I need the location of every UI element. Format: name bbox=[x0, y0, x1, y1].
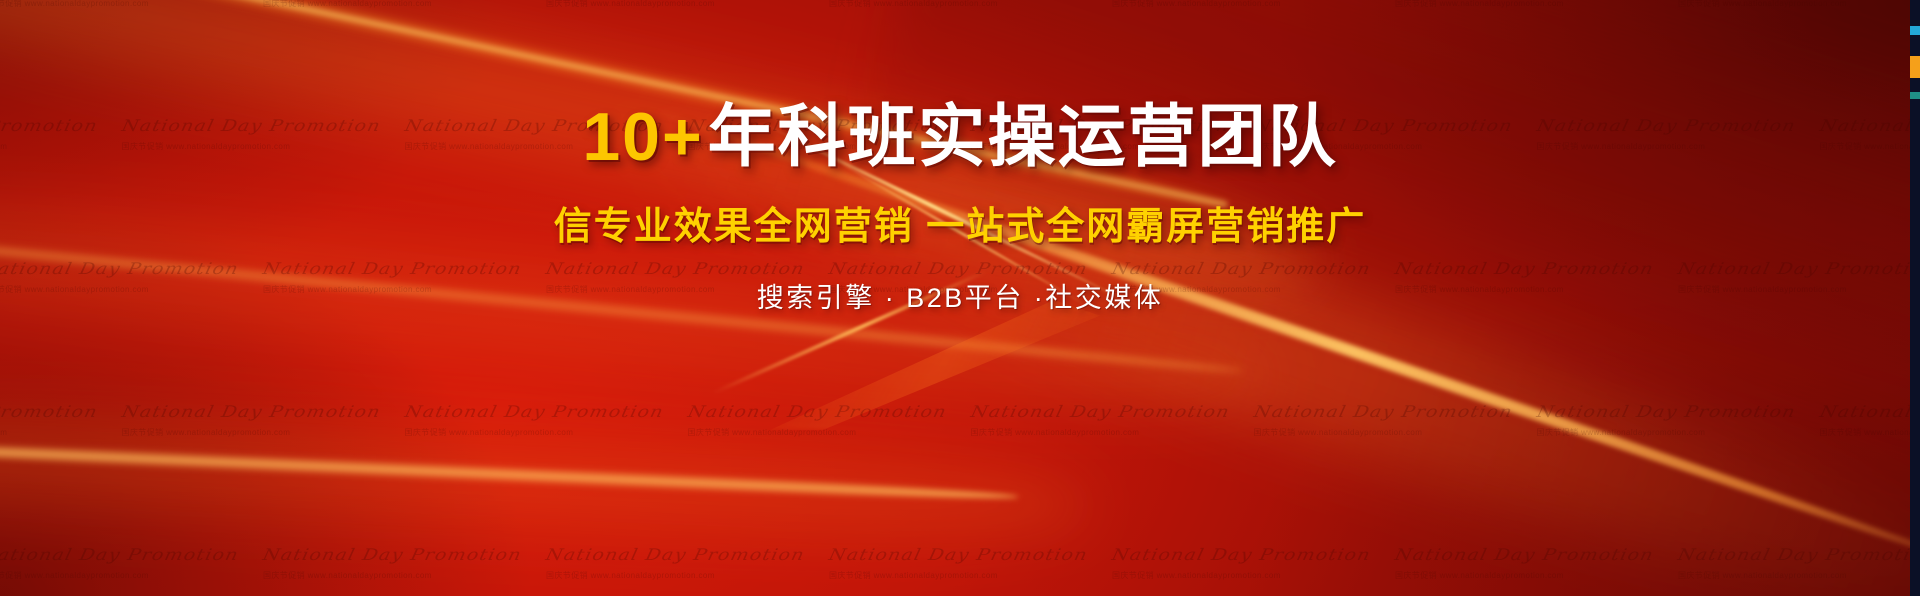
watermark-tile: National Day Promotion国庆节促销 www.national… bbox=[1537, 403, 1796, 438]
light-ray-lower bbox=[0, 432, 1019, 506]
watermark-tile: National Day Promotion国庆节促销 www.national… bbox=[1678, 546, 1920, 581]
watermark-script-text: National Day Promotion bbox=[1252, 405, 1514, 421]
watermark-tile: National Day Promotion国庆节促销 www.national… bbox=[1395, 546, 1654, 581]
watermark-script-text: National Day Promotion bbox=[827, 548, 1089, 564]
watermark-tile: National Day Promotion国庆节促销 www.national… bbox=[1254, 403, 1513, 438]
headline-number: 10+ bbox=[582, 99, 703, 175]
edge-marker-orange bbox=[1910, 56, 1920, 78]
watermark-tile: National Day Promotion国庆节促销 www.national… bbox=[1112, 546, 1371, 581]
headline-text: 年科班实操运营团队 bbox=[708, 99, 1338, 175]
watermark-sub-text: 国庆节促销 www.nationaldaypromotion.com bbox=[263, 570, 522, 581]
promotional-banner: National Day Promotion国庆节促销 www.national… bbox=[0, 0, 1920, 596]
watermark-tile: National Day Promotion国庆节促销 www.national… bbox=[0, 546, 239, 581]
watermark-script-text: National Day Promotion bbox=[1110, 548, 1372, 564]
watermark-sub-text: 国庆节促销 www.nationaldaypromotion.com bbox=[688, 427, 947, 438]
banner-copy: 10+年科班实操运营团队 信专业效果全网营销 一站式全网霸屏营销推广 搜索引擎 … bbox=[0, 0, 1920, 315]
right-edge-strip bbox=[1910, 0, 1920, 596]
ribbon-wedge-shape bbox=[770, 300, 1100, 430]
watermark-sub-text: 国庆节促销 www.nationaldaypromotion.com bbox=[405, 427, 664, 438]
watermark-script-text: National Day Promotion bbox=[1535, 405, 1797, 421]
banner-tagline: 搜索引擎 · B2B平台 ·社交媒体 bbox=[0, 276, 1920, 315]
watermark-sub-text: 国庆节促销 www.nationaldaypromotion.com bbox=[1254, 427, 1513, 438]
watermark-script-text: National Day Promotion bbox=[403, 405, 665, 421]
watermark-script-text: National Day Promotion bbox=[686, 405, 948, 421]
watermark-sub-text: 国庆节促销 www.nationaldaypromotion.com bbox=[0, 427, 97, 438]
watermark-sub-text: 国庆节促销 www.nationaldaypromotion.com bbox=[0, 570, 239, 581]
watermark-sub-text: 国庆节促销 www.nationaldaypromotion.com bbox=[1112, 570, 1371, 581]
watermark-tile: National Day Promotion国庆节促销 www.national… bbox=[263, 546, 522, 581]
watermark-tile: National Day Promotion国庆节促销 www.national… bbox=[971, 403, 1230, 438]
watermark-script-text: National Day Promotion bbox=[0, 405, 99, 421]
watermark-script-text: National Day Promotion bbox=[1818, 405, 1920, 421]
watermark-sub-text: 国庆节促销 www.nationaldaypromotion.com bbox=[1537, 427, 1796, 438]
watermark-tile: National Day Promotion国庆节促销 www.national… bbox=[829, 546, 1088, 581]
watermark-sub-text: 国庆节促销 www.nationaldaypromotion.com bbox=[1678, 570, 1920, 581]
edge-marker-teal bbox=[1910, 92, 1920, 99]
watermark-script-text: National Day Promotion bbox=[1676, 548, 1920, 564]
watermark-script-text: National Day Promotion bbox=[1393, 548, 1655, 564]
watermark-script-text: National Day Promotion bbox=[969, 405, 1231, 421]
watermark-sub-text: 国庆节促销 www.nationaldaypromotion.com bbox=[1820, 427, 1920, 438]
banner-headline: 10+年科班实操运营团队 bbox=[0, 103, 1920, 171]
watermark-script-text: National Day Promotion bbox=[261, 548, 523, 564]
watermark-tile: National Day Promotion国庆节促销 www.national… bbox=[546, 546, 805, 581]
light-ray-lower-glow bbox=[0, 378, 1092, 577]
watermark-script-text: National Day Promotion bbox=[0, 548, 240, 564]
watermark-sub-text: 国庆节促销 www.nationaldaypromotion.com bbox=[1395, 570, 1654, 581]
banner-subheadline: 信专业效果全网营销 一站式全网霸屏营销推广 bbox=[0, 195, 1920, 250]
watermark-sub-text: 国庆节促销 www.nationaldaypromotion.com bbox=[122, 427, 381, 438]
watermark-sub-text: 国庆节促销 www.nationaldaypromotion.com bbox=[971, 427, 1230, 438]
watermark-tile: National Day Promotion国庆节促销 www.national… bbox=[1820, 403, 1920, 438]
watermark-tile: National Day Promotion国庆节促销 www.national… bbox=[688, 403, 947, 438]
watermark-tile: National Day Promotion国庆节促销 www.national… bbox=[405, 403, 664, 438]
watermark-sub-text: 国庆节促销 www.nationaldaypromotion.com bbox=[829, 570, 1088, 581]
watermark-tile: National Day Promotion国庆节促销 www.national… bbox=[122, 403, 381, 438]
watermark-script-text: National Day Promotion bbox=[120, 405, 382, 421]
watermark-tile: National Day Promotion国庆节促销 www.national… bbox=[0, 403, 97, 438]
edge-marker-cyan bbox=[1910, 26, 1920, 35]
watermark-sub-text: 国庆节促销 www.nationaldaypromotion.com bbox=[546, 570, 805, 581]
watermark-script-text: National Day Promotion bbox=[544, 548, 806, 564]
